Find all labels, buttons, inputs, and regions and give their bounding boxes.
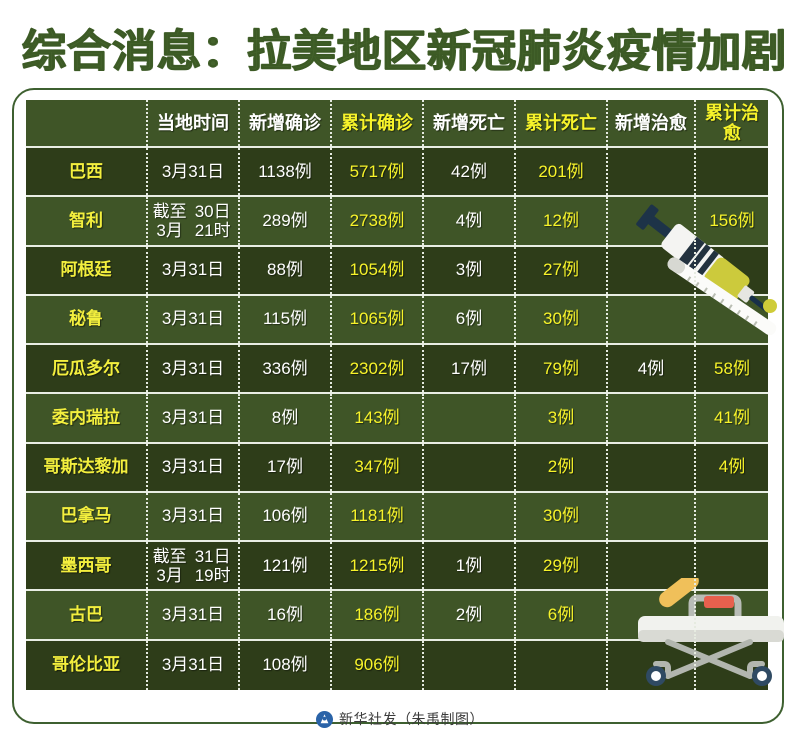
- cell-country: 智利: [26, 197, 148, 244]
- cell-new-deaths: 4例: [424, 197, 516, 244]
- cell-new-confirmed: 106例: [240, 493, 332, 540]
- cell-total-recovered: [696, 148, 768, 195]
- cell-new-deaths: 1例: [424, 542, 516, 589]
- cell-new-recovered: [608, 296, 696, 343]
- cell-new-confirmed: 1138例: [240, 148, 332, 195]
- cell-new-recovered: [608, 591, 696, 638]
- cell-total-confirmed: 5717例: [332, 148, 424, 195]
- cell-country: 古巴: [26, 591, 148, 638]
- cell-total-confirmed: 906例: [332, 641, 424, 690]
- table-row: 智利截至3月30日21时289例2738例4例12例156例: [26, 197, 768, 246]
- header-cell-total-deaths: 累计死亡: [516, 100, 608, 146]
- cell-new-confirmed: 289例: [240, 197, 332, 244]
- cell-total-recovered: 58例: [696, 345, 768, 392]
- cell-country: 委内瑞拉: [26, 394, 148, 441]
- header-cell-total-confirmed: 累计确诊: [332, 100, 424, 146]
- cell-new-deaths: 6例: [424, 296, 516, 343]
- header-cell-local-time: 当地时间: [148, 100, 240, 146]
- cell-total-confirmed: 2302例: [332, 345, 424, 392]
- cell-new-deaths: [424, 444, 516, 491]
- cell-total-confirmed: 1054例: [332, 247, 424, 294]
- cell-new-deaths: 2例: [424, 591, 516, 638]
- cell-new-confirmed: 121例: [240, 542, 332, 589]
- cell-total-confirmed: 1181例: [332, 493, 424, 540]
- cell-new-recovered: [608, 247, 696, 294]
- table-row: 委内瑞拉3月31日8例143例3例41例: [26, 394, 768, 443]
- cell-total-deaths: 2例: [516, 444, 608, 491]
- cell-new-recovered: [608, 641, 696, 690]
- table-row: 古巴3月31日16例186例2例6例: [26, 591, 768, 640]
- cell-new-confirmed: 88例: [240, 247, 332, 294]
- cell-total-recovered: [696, 641, 768, 690]
- header-cell-new-recovered: 新增治愈: [608, 100, 696, 146]
- cell-total-recovered: [696, 493, 768, 540]
- cell-country: 哥斯达黎加: [26, 444, 148, 491]
- cell-new-deaths: 42例: [424, 148, 516, 195]
- cell-total-deaths: 27例: [516, 247, 608, 294]
- header-cell-new-deaths: 新增死亡: [424, 100, 516, 146]
- footer-credit: 新华社发（朱禹制图）: [339, 709, 484, 729]
- xinhua-logo-icon: [316, 711, 333, 728]
- cell-total-recovered: 4例: [696, 444, 768, 491]
- cell-new-recovered: [608, 394, 696, 441]
- footer: 新华社发（朱禹制图）: [0, 706, 800, 732]
- cell-new-deaths: [424, 641, 516, 690]
- cell-new-recovered: [608, 444, 696, 491]
- cell-total-recovered: 41例: [696, 394, 768, 441]
- cell-total-confirmed: 1065例: [332, 296, 424, 343]
- cell-new-recovered: 4例: [608, 345, 696, 392]
- table-row: 哥斯达黎加3月31日17例347例2例4例: [26, 444, 768, 493]
- table-row: 厄瓜多尔3月31日336例2302例17例79例4例58例: [26, 345, 768, 394]
- cell-total-deaths: 6例: [516, 591, 608, 638]
- cell-total-confirmed: 1215例: [332, 542, 424, 589]
- cell-total-deaths: 201例: [516, 148, 608, 195]
- cell-country: 巴西: [26, 148, 148, 195]
- cell-new-recovered: [608, 493, 696, 540]
- cell-total-recovered: 156例: [696, 197, 768, 244]
- header-cell-new-confirmed: 新增确诊: [240, 100, 332, 146]
- cell-new-confirmed: 17例: [240, 444, 332, 491]
- cell-local-time: 3月31日: [148, 641, 240, 690]
- cell-new-recovered: [608, 542, 696, 589]
- table-row: 阿根廷3月31日88例1054例3例27例: [26, 247, 768, 296]
- cell-local-time: 截至3月31日19时: [148, 542, 240, 589]
- table-row: 秘鲁3月31日115例1065例6例30例: [26, 296, 768, 345]
- table-row: 巴西3月31日1138例5717例42例201例: [26, 148, 768, 197]
- cell-country: 阿根廷: [26, 247, 148, 294]
- cell-total-confirmed: 347例: [332, 444, 424, 491]
- cell-new-recovered: [608, 148, 696, 195]
- cell-local-time: 3月31日: [148, 247, 240, 294]
- cell-total-confirmed: 186例: [332, 591, 424, 638]
- table-row: 墨西哥截至3月31日19时121例1215例1例29例: [26, 542, 768, 591]
- cell-total-deaths: 12例: [516, 197, 608, 244]
- cell-country: 厄瓜多尔: [26, 345, 148, 392]
- cell-local-time: 3月31日: [148, 148, 240, 195]
- cell-total-confirmed: 143例: [332, 394, 424, 441]
- cell-new-confirmed: 336例: [240, 345, 332, 392]
- cell-total-deaths: 30例: [516, 493, 608, 540]
- header-cell-country: [26, 100, 148, 146]
- cell-total-recovered: [696, 542, 768, 589]
- cell-local-time: 3月31日: [148, 444, 240, 491]
- cell-total-recovered: [696, 247, 768, 294]
- cell-local-time: 截至3月30日21时: [148, 197, 240, 244]
- cell-country: 巴拿马: [26, 493, 148, 540]
- cell-total-recovered: [696, 296, 768, 343]
- page-title: 综合消息：拉美地区新冠肺炎疫情加剧: [22, 26, 782, 78]
- cell-country: 哥伦比亚: [26, 641, 148, 690]
- cell-total-deaths: 79例: [516, 345, 608, 392]
- cell-new-confirmed: 16例: [240, 591, 332, 638]
- infographic-root: 综合消息：拉美地区新冠肺炎疫情加剧: [0, 0, 800, 739]
- table-row: 巴拿马3月31日106例1181例30例: [26, 493, 768, 542]
- cell-new-confirmed: 108例: [240, 641, 332, 690]
- cell-total-deaths: 3例: [516, 394, 608, 441]
- cell-local-time: 3月31日: [148, 493, 240, 540]
- cell-total-confirmed: 2738例: [332, 197, 424, 244]
- cell-total-deaths: 29例: [516, 542, 608, 589]
- table-body: 巴西3月31日1138例5717例42例201例智利截至3月30日21时289例…: [26, 148, 768, 690]
- covid-data-table: 当地时间 新增确诊 累计确诊 新增死亡 累计死亡 新增治愈 累计治愈 巴西3月3…: [26, 100, 768, 690]
- cell-local-time: 3月31日: [148, 296, 240, 343]
- cell-new-deaths: [424, 493, 516, 540]
- cell-local-time: 3月31日: [148, 591, 240, 638]
- table-row: 哥伦比亚3月31日108例906例: [26, 641, 768, 690]
- cell-new-deaths: [424, 394, 516, 441]
- cell-local-time: 3月31日: [148, 345, 240, 392]
- table-header-row: 当地时间 新增确诊 累计确诊 新增死亡 累计死亡 新增治愈 累计治愈: [26, 100, 768, 148]
- cell-new-deaths: 17例: [424, 345, 516, 392]
- header-cell-total-recovered: 累计治愈: [696, 100, 768, 146]
- cell-country: 秘鲁: [26, 296, 148, 343]
- cell-total-recovered: [696, 591, 768, 638]
- cell-country: 墨西哥: [26, 542, 148, 589]
- cell-new-deaths: 3例: [424, 247, 516, 294]
- cell-new-recovered: [608, 197, 696, 244]
- cell-total-deaths: 30例: [516, 296, 608, 343]
- cell-total-deaths: [516, 641, 608, 690]
- cell-new-confirmed: 115例: [240, 296, 332, 343]
- cell-local-time: 3月31日: [148, 394, 240, 441]
- cell-new-confirmed: 8例: [240, 394, 332, 441]
